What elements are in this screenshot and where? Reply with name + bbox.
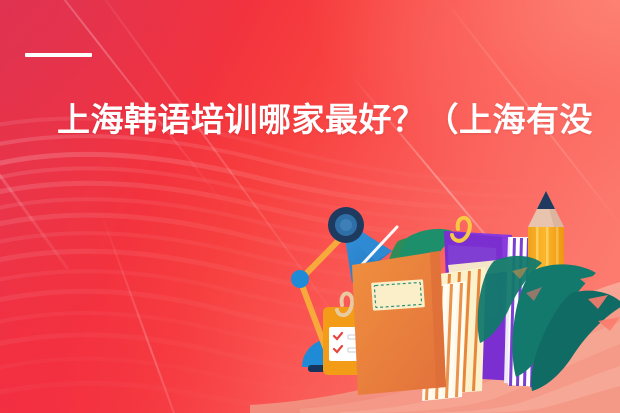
dash-icon bbox=[25, 53, 92, 57]
lamp-joint bbox=[291, 270, 309, 288]
pencil-tip bbox=[537, 191, 555, 209]
banner-canvas: 上海韩语培训哪家最好？（上海有没 bbox=[0, 0, 620, 413]
stationery-illustration bbox=[280, 175, 620, 413]
page-title: 上海韩语培训哪家最好？（上海有没 bbox=[57, 103, 620, 136]
